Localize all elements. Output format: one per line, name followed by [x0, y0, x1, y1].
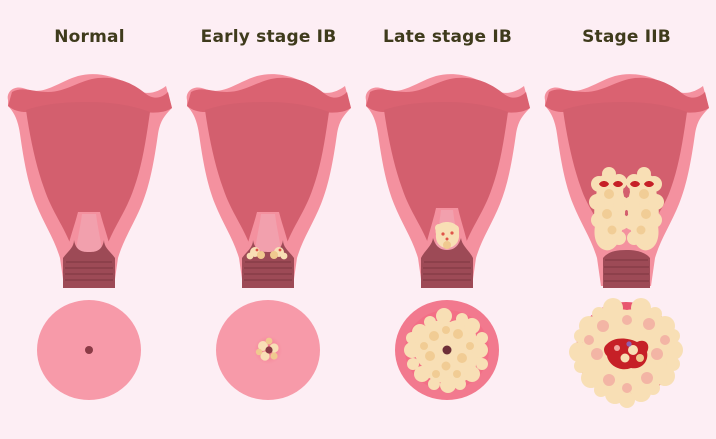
panel-title-late-stage-ib: Late stage IB [358, 27, 537, 47]
panel-title-normal: Normal [0, 27, 179, 47]
cervix-face-late-stage-ib [358, 292, 537, 417]
uterus-cross-section-stage-iib [537, 62, 716, 290]
panel-stage-iib: Stage IIB [537, 0, 716, 439]
illustration-board: Normal [0, 0, 716, 439]
panel-early-stage-ib: Early stage IB [179, 0, 358, 439]
cervical-os [443, 346, 452, 355]
panel-normal: Normal [0, 0, 179, 439]
cervix-face-normal [0, 292, 179, 417]
panel-title-early-stage-ib: Early stage IB [179, 27, 358, 47]
cervical-os [265, 346, 272, 353]
uterus-cross-section-early-stage-ib [179, 62, 358, 290]
cervix-face-stage-iib [537, 292, 716, 417]
cervical-canal [603, 250, 650, 288]
panel-late-stage-ib: Late stage IB [358, 0, 537, 439]
panel-title-stage-iib: Stage IIB [537, 27, 716, 47]
cervical-os [85, 346, 93, 354]
uterus-cross-section-late-stage-ib [358, 62, 537, 290]
uterus-cross-section-normal [0, 62, 179, 290]
cervix-face-early-stage-ib [179, 292, 358, 417]
